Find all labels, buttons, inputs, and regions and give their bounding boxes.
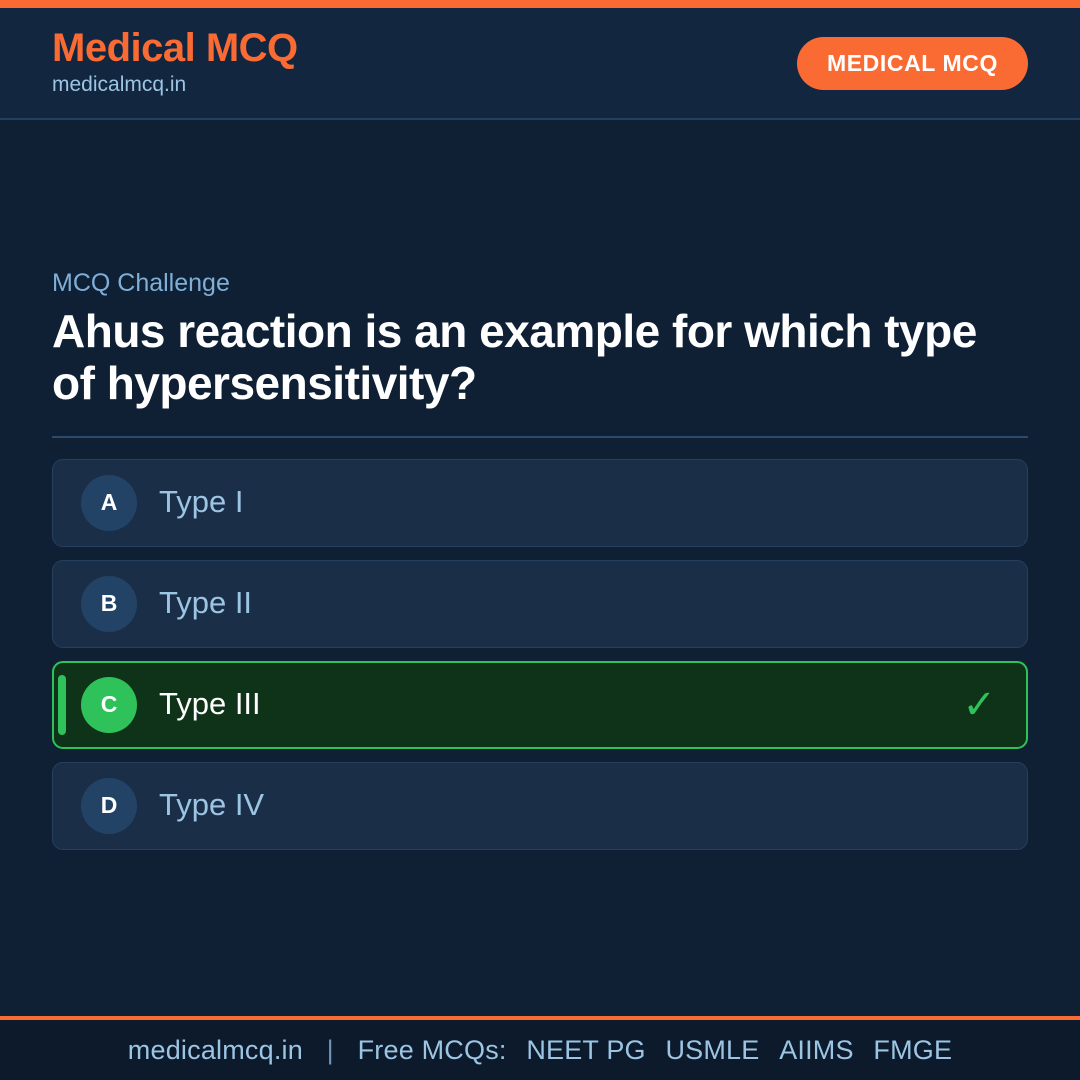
question-content: MCQ Challenge Ahus reaction is an exampl… bbox=[52, 268, 1028, 849]
footer-exam-1: USMLE bbox=[665, 1035, 759, 1065]
option-letter-a: A bbox=[81, 475, 137, 531]
option-letter-b: B bbox=[81, 576, 137, 632]
divider bbox=[52, 436, 1028, 438]
option-letter-d: D bbox=[81, 778, 137, 834]
check-icon: ✓ bbox=[962, 685, 996, 725]
footer-text: medicalmcq.in | Free MCQs: NEET PG USMLE… bbox=[128, 1035, 952, 1066]
option-a[interactable]: A Type I bbox=[52, 459, 1028, 547]
eyebrow-label: MCQ Challenge bbox=[52, 268, 1028, 298]
option-letter-c: C bbox=[81, 677, 137, 733]
medical-mcq-badge: MEDICAL MCQ bbox=[797, 37, 1028, 90]
option-text-b: Type II bbox=[159, 586, 1003, 620]
option-c-correct[interactable]: C Type III ✓ bbox=[52, 661, 1028, 749]
footer-exams: NEET PG USMLE AIIMS FMGE bbox=[514, 1035, 952, 1065]
footer-site: medicalmcq.in bbox=[128, 1035, 303, 1065]
correct-accent-bar bbox=[58, 675, 66, 735]
option-text-c: Type III bbox=[159, 687, 962, 721]
options-list: A Type I B Type II C Type III ✓ D Type I… bbox=[52, 459, 1028, 850]
option-b[interactable]: B Type II bbox=[52, 560, 1028, 648]
brand-subtitle: medicalmcq.in bbox=[52, 72, 298, 98]
option-d[interactable]: D Type IV bbox=[52, 762, 1028, 850]
footer-exam-3: FMGE bbox=[873, 1035, 952, 1065]
footer-exams-label: Free MCQs: bbox=[358, 1035, 507, 1065]
footer-exam-0: NEET PG bbox=[526, 1035, 645, 1065]
header-bar: Medical MCQ medicalmcq.in MEDICAL MCQ bbox=[0, 8, 1080, 120]
footer-separator: | bbox=[327, 1035, 334, 1065]
question-area: MCQ Challenge Ahus reaction is an exampl… bbox=[0, 120, 1080, 1016]
footer-bar: medicalmcq.in | Free MCQs: NEET PG USMLE… bbox=[0, 1016, 1080, 1080]
top-accent-strip bbox=[0, 0, 1080, 8]
brand: Medical MCQ medicalmcq.in bbox=[52, 27, 298, 98]
page-title: Ahus reaction is an example for which ty… bbox=[52, 306, 1028, 409]
option-text-d: Type IV bbox=[159, 788, 1003, 822]
option-text-a: Type I bbox=[159, 485, 1003, 519]
mcq-card: Medical MCQ medicalmcq.in MEDICAL MCQ MC… bbox=[0, 0, 1080, 1080]
brand-title: Medical MCQ bbox=[52, 27, 298, 70]
footer-exam-2: AIIMS bbox=[779, 1035, 854, 1065]
